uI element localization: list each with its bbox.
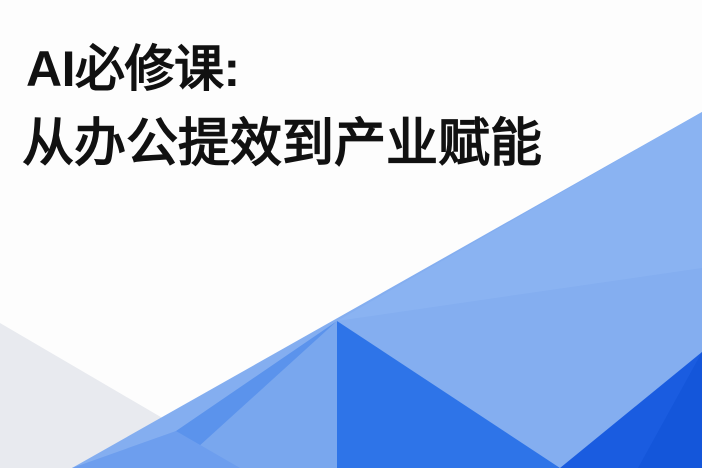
background-artwork: [0, 0, 702, 468]
poster-canvas: AI必修课: 从办公提效到产业赋能: [0, 0, 702, 468]
